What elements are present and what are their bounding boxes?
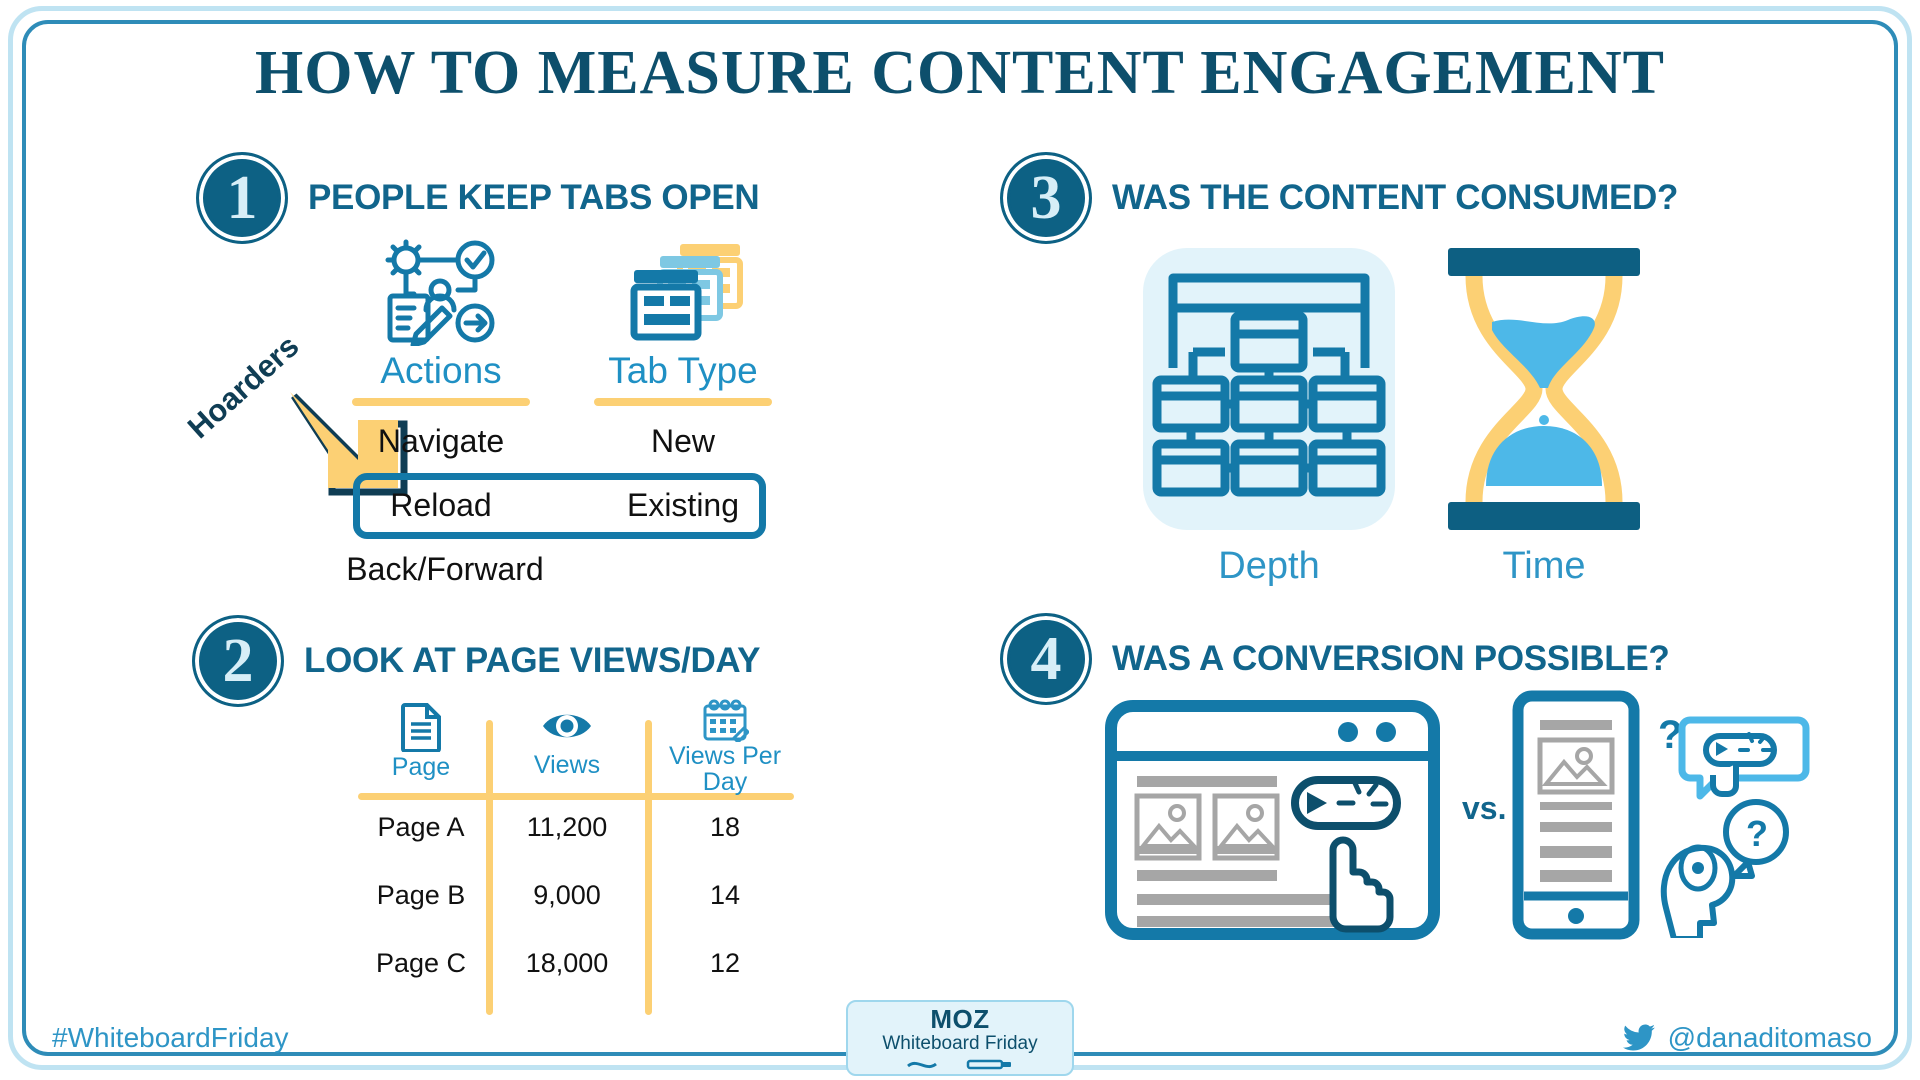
- vs-comparator-label: vs.: [1462, 790, 1506, 827]
- s2-header-vpd-line1: Views Per: [656, 743, 794, 769]
- footer-handle: @danaditomaso: [1668, 1022, 1872, 1054]
- s2-header-views-per-day: Views Per Day: [656, 698, 794, 796]
- section-2-title: LOOK AT PAGE VIEWS/DAY: [304, 641, 760, 681]
- s2-row-0-page: Page A: [358, 812, 484, 843]
- s2-row-0-vpd: 18: [656, 812, 794, 843]
- tabtype-column-label: Tab Type: [594, 350, 772, 392]
- page-title: HOW TO MEASURE CONTENT ENGAGEMENT: [0, 38, 1920, 109]
- s2-row-0-views: 11,200: [497, 812, 637, 843]
- sitemap-depth-icon: [1143, 248, 1395, 530]
- section-1-header: 1 PEOPLE KEEP TABS OPEN: [196, 152, 759, 244]
- s2-row-1-views: 9,000: [497, 880, 637, 911]
- calendar-icon: [701, 698, 749, 742]
- s1-tabtype-new: New: [594, 423, 772, 460]
- s2-header-vpd-line2: Day: [656, 769, 794, 795]
- section-1-title: PEOPLE KEEP TABS OPEN: [308, 178, 759, 218]
- section-1-badge: 1: [196, 152, 288, 244]
- section-3-title: WAS THE CONTENT CONSUMED?: [1112, 178, 1678, 218]
- hourglass-icon: [1448, 248, 1640, 530]
- desktop-browser-cta-icon: [1105, 700, 1440, 940]
- depth-label: Depth: [1143, 545, 1395, 588]
- s2-divider-2: [645, 720, 652, 1015]
- footer-handle-group: @danaditomaso: [1622, 1022, 1872, 1054]
- twitter-bird-icon: [1622, 1024, 1656, 1052]
- moz-logo-text: MOZ: [930, 1006, 989, 1032]
- actions-column-header: Actions: [352, 238, 530, 406]
- s1-action-navigate: Navigate: [352, 423, 530, 460]
- s2-row-1-page: Page B: [358, 880, 484, 911]
- eye-icon: [541, 702, 593, 750]
- section-2-badge: 2: [192, 615, 284, 707]
- s1-tabtype-existing: Existing: [594, 487, 772, 524]
- time-label: Time: [1448, 545, 1640, 588]
- section-3-header: 3 WAS THE CONTENT CONSUMED?: [1000, 152, 1678, 244]
- s1-action-reload: Reload: [352, 487, 530, 524]
- section-4-title: WAS A CONVERSION POSSIBLE?: [1112, 639, 1669, 679]
- tabtype-column-rule: [594, 398, 772, 406]
- mobile-phone-icon: [1512, 690, 1640, 940]
- s2-row-2-views: 18,000: [497, 948, 637, 979]
- s2-row-2-page: Page C: [358, 948, 484, 979]
- moz-subtitle: Whiteboard Friday: [882, 1032, 1037, 1057]
- s2-header-views: Views: [497, 702, 637, 778]
- actions-column-rule: [352, 398, 530, 406]
- moz-whiteboard-friday-badge: MOZ Whiteboard Friday: [846, 1000, 1074, 1076]
- actions-column-label: Actions: [352, 350, 530, 392]
- s2-divider-1: [486, 720, 493, 1015]
- s2-header-page: Page: [358, 702, 484, 780]
- whiteboard-marker-icon: [906, 1058, 1014, 1070]
- infographic-canvas: HOW TO MEASURE CONTENT ENGAGEMENT 1 PEOP…: [0, 0, 1920, 1080]
- section-2-header: 2 LOOK AT PAGE VIEWS/DAY: [192, 615, 760, 707]
- tabtype-column-header: Tab Type: [594, 238, 772, 406]
- footer-hashtag: #WhiteboardFriday: [52, 1022, 289, 1054]
- browser-tabs-icon: [614, 238, 752, 346]
- confused-head-icon: ? ?: [1650, 708, 1810, 938]
- section-3-badge: 3: [1000, 152, 1092, 244]
- document-icon: [400, 702, 442, 752]
- s2-header-page-label: Page: [358, 754, 484, 780]
- s1-action-back-forward: Back/Forward: [320, 551, 570, 588]
- actions-workflow-icon: [376, 238, 506, 346]
- s2-row-1-vpd: 14: [656, 880, 794, 911]
- svg-text:?: ?: [1746, 813, 1768, 854]
- s2-header-views-label: Views: [497, 752, 637, 778]
- section-4-badge: 4: [1000, 613, 1092, 705]
- s2-row-2-vpd: 12: [656, 948, 794, 979]
